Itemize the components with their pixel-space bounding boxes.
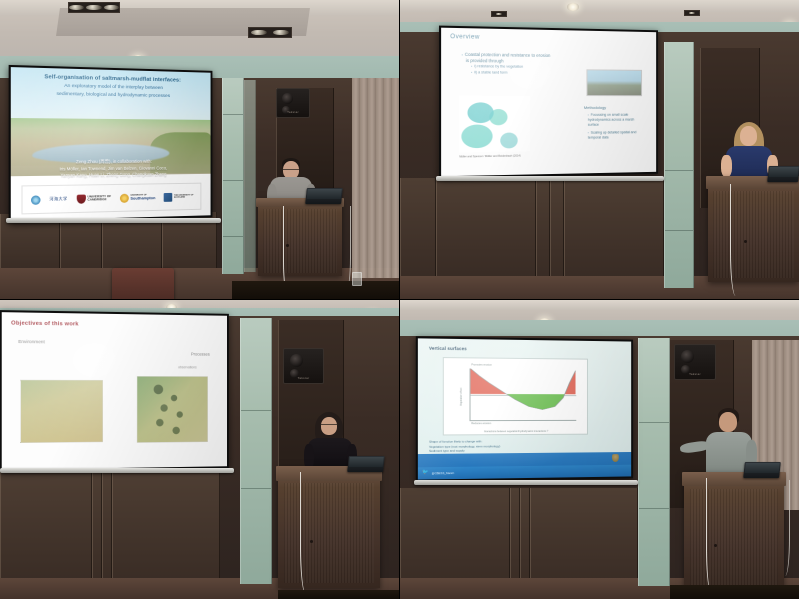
- auckland-logo: THE UNIVERSITY OFAUCKLAND: [164, 192, 193, 201]
- speaker-brand-label: Takstar: [689, 372, 701, 376]
- slide-overview: Overview Coastal protection and resistan…: [441, 28, 656, 177]
- hanging-cable: [706, 478, 720, 594]
- presenter-glasses: [320, 424, 338, 426]
- presenter-head: [719, 412, 737, 432]
- hohai-label: 河海大学: [49, 196, 67, 203]
- podium-bottom-left: [278, 466, 380, 588]
- glass-pillar: [222, 78, 244, 274]
- ceiling-spotlight-bar: [684, 10, 700, 16]
- chart-plot-area: [470, 369, 576, 421]
- hohai-emblem-logo: [31, 195, 40, 204]
- slide-notes: Shape of function likely to change with:…: [429, 440, 500, 454]
- methodology-bullet-2: Scaling up detailed spatial and temporal…: [588, 130, 646, 141]
- ceiling-spotlight-bar: [491, 11, 507, 17]
- chart-curve: [471, 369, 576, 420]
- panel-bottom-left: Takstar Objectives of this work Environm…: [0, 300, 400, 599]
- slide-title: Self-organisation of saltmarsh-mudflat i…: [11, 67, 211, 221]
- slide-objectives: Objectives of this work Environment Proc…: [2, 312, 227, 470]
- podium-top-right: [708, 176, 799, 282]
- podium-top-left: [258, 198, 342, 276]
- recessed-downlight: [567, 3, 579, 11]
- slide-bullet-list: Coastal protection and resistance to ero…: [462, 52, 589, 77]
- glass-pillar: [240, 318, 272, 584]
- cambridge-logo: UNIVERSITY OFCAMBRIDGE: [77, 194, 111, 204]
- podium-laptop: [743, 462, 781, 478]
- aerial-photo-left: [21, 380, 104, 443]
- subhead-small: observations: [178, 365, 197, 369]
- slide-vertical-surfaces: Vertical surfaces Promotes erosion Reduc…: [418, 338, 631, 479]
- twitter-footer-bar: 🐦 @CBESS_Marsh: [418, 464, 631, 479]
- hanging-cable: [338, 206, 351, 292]
- southampton-logo: UNIVERSITY OFSouthampton: [120, 193, 155, 203]
- subhead-left: Environment: [18, 339, 45, 344]
- podium-laptop: [347, 456, 385, 472]
- hanging-cable: [730, 184, 744, 296]
- presenter-head: [321, 417, 337, 435]
- logo-strip: 河海大学 UNIVERSITY OFCAMBRIDGE UNIVERSITY O…: [22, 183, 202, 215]
- presenter-arm-left: [721, 155, 732, 177]
- wall-loudspeaker: Takstar: [674, 344, 716, 380]
- southampton-label: Southampton: [130, 196, 155, 201]
- presenter-glasses: [283, 169, 299, 171]
- methodology-heading: Methodology: [584, 105, 646, 110]
- map-figure: [459, 96, 530, 152]
- panel-bottom-right: Takstar Vertical surfaces Promotes erosi…: [400, 300, 799, 599]
- cambridge-line2: CAMBRIDGE: [87, 198, 111, 202]
- wall-loudspeaker: Takstar: [276, 88, 310, 118]
- podium-bottom-right: [684, 472, 784, 590]
- chart-annotation-bottom: Reduces erosion: [471, 422, 491, 425]
- room-chair: [112, 268, 174, 300]
- photo-collage-grid: Takstar Self-organisation of saltmarsh-m…: [0, 0, 799, 599]
- slide-authors: Zeng Zhou (周曾), in collaboration with: I…: [22, 158, 202, 180]
- glass-pillar: [664, 42, 694, 288]
- hanging-cable: [300, 472, 316, 596]
- subhead-right: Processes: [191, 352, 210, 357]
- projection-screen: Self-organisation of saltmarsh-mudflat i…: [9, 65, 213, 223]
- screen-roller-bar: [6, 218, 221, 223]
- chart-annotation-top: Promotes erosion: [471, 364, 492, 367]
- window-curtain: [352, 78, 400, 278]
- chart-container: Promotes erosion Reduces erosion Vegetat…: [442, 357, 588, 436]
- twitter-handle: @CBESS_Marsh: [432, 471, 454, 475]
- slide-heading: Vertical surfaces: [429, 346, 467, 352]
- podium-laptop: [767, 166, 799, 182]
- map-caption: Möller and Spencer / Möller and Reidenba…: [459, 154, 520, 158]
- coastal-marsh-photo: [586, 69, 642, 96]
- chart-x-axis-label: Interactions between vegetation/hydrodyn…: [484, 430, 548, 433]
- podium-laptop: [305, 188, 343, 204]
- aerial-photo-right: [137, 376, 207, 443]
- collaborators-line-2: Yanyan Kang, Huan Li, Zheng Gong, Changk…: [22, 171, 202, 180]
- methodology-bullet-1: Focussing on small scale hydrodynamics a…: [588, 113, 646, 128]
- room-table: [670, 585, 799, 599]
- twitter-bird-icon: 🐦: [422, 471, 428, 476]
- sub-bullet-2: ii) a stable land form: [471, 70, 588, 76]
- hanging-cable: [778, 480, 790, 576]
- university-crest-icon: [612, 454, 619, 462]
- drinking-glass: [352, 272, 362, 286]
- notes-line-3: Sediment type and supply: [429, 449, 500, 454]
- ceiling-spotlight-bar: [248, 27, 292, 38]
- collage-divider-horizontal: [0, 299, 799, 300]
- hohai-university-logo: 河海大学: [49, 196, 67, 203]
- screen-roller-bar: [436, 176, 664, 181]
- projection-screen: Vertical surfaces Promotes erosion Reduc…: [416, 336, 633, 481]
- methodology-block: Methodology Focussing on small scale hyd…: [584, 105, 646, 144]
- panel-top-left: Takstar Self-organisation of saltmarsh-m…: [0, 0, 400, 300]
- room-table: [232, 281, 400, 300]
- panel-top-right: Takstar Overview Coastal protection and …: [400, 0, 799, 300]
- wall-loudspeaker: Takstar: [283, 348, 324, 384]
- projection-screen: Objectives of this work Environment Proc…: [0, 310, 229, 472]
- presenter-head: [740, 126, 757, 146]
- auckland-line2: AUCKLAND: [174, 196, 193, 199]
- screen-roller-bar: [0, 468, 234, 473]
- projection-screen: Overview Coastal protection and resistan…: [439, 26, 658, 179]
- slide-title-block: Self-organisation of saltmarsh-mudflat i…: [24, 74, 200, 101]
- glass-pillar: [638, 338, 670, 586]
- slide-heading: Objectives of this work: [11, 320, 79, 327]
- screen-roller-bar: [414, 480, 638, 485]
- slide-heading: Overview: [450, 34, 480, 41]
- speaker-brand-label: Takstar: [287, 110, 299, 114]
- chart-y-axis-label: Vegetation effect: [460, 387, 463, 405]
- speaker-brand-label: Takstar: [298, 376, 310, 380]
- room-table: [278, 590, 400, 599]
- ceiling-spotlight-bar: [68, 2, 120, 13]
